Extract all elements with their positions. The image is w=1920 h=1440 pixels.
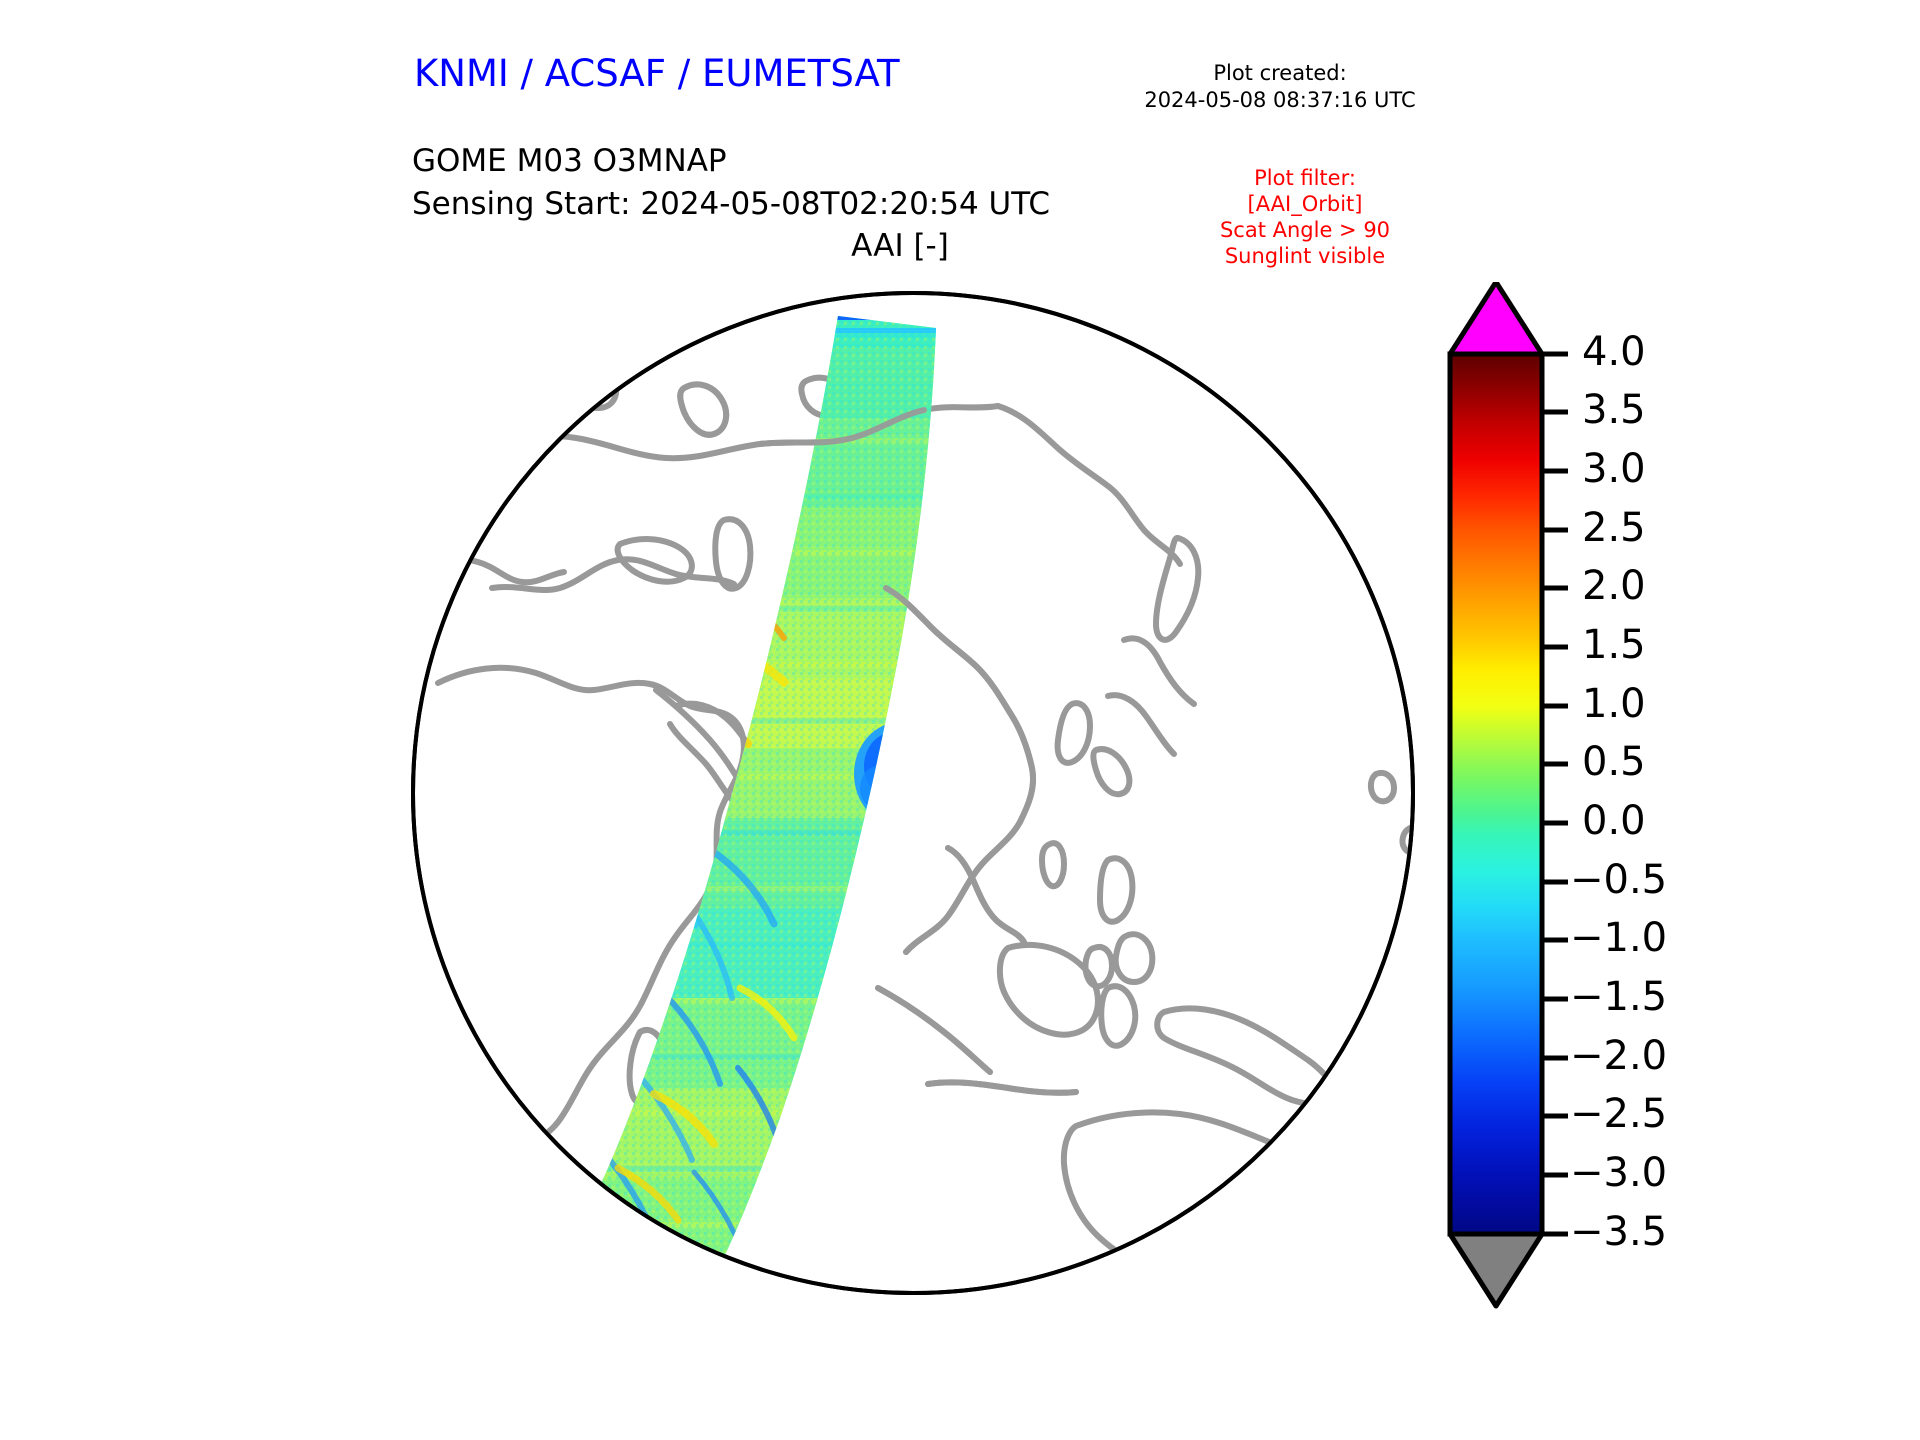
colorbar-tick-label: 0.5 [1582,739,1646,785]
globe-svg [408,288,1418,1298]
plot-filter-condition: Scat Angle > 90 [1160,217,1450,243]
plot-filter-note: Sunglint visible [1160,243,1450,269]
colorbar-under-arrow [1450,1234,1542,1306]
sensing-start: Sensing Start: 2024-05-08T02:20:54 UTC [412,183,1050,226]
plot-created-label: Plot created: [1120,60,1440,87]
organisation-title: KNMI / ACSAF / EUMETSAT [414,52,900,95]
colorbar-tick-label: −3.5 [1570,1209,1667,1255]
plot-filter-name: [AAI_Orbit] [1160,191,1450,217]
colorbar-tick-labels: 4.0 3.5 3.0 2.5 2.0 1.5 1.0 0.5 0.0 −0.5… [1570,329,1667,1255]
colorbar-tick-label: 4.0 [1582,329,1646,375]
colorbar-tick-label: 0.0 [1582,798,1646,844]
colorbar-tick-label: 2.0 [1582,563,1646,609]
colorbar-over-arrow [1450,282,1542,354]
colorbar-tick-label: −0.5 [1570,857,1667,903]
colorbar-tick-label: −2.5 [1570,1091,1667,1137]
colorbar-svg: 4.0 3.5 3.0 2.5 2.0 1.5 1.0 0.5 0.0 −0.5… [1440,282,1700,1312]
colorbar-tick-label: −2.0 [1570,1033,1667,1079]
colorbar-tick-label: 1.5 [1582,622,1646,668]
globe-map [408,288,1418,1298]
plot-created-timestamp: 2024-05-08 08:37:16 UTC [1120,87,1440,114]
colorbar-gradient [1450,354,1542,1234]
colorbar-tick-label: −1.0 [1570,915,1667,961]
plot-created-block: Plot created: 2024-05-08 08:37:16 UTC [1120,60,1440,114]
southern-terminator-negative [560,1234,708,1294]
dataset-name: GOME M03 O3MNAP [412,140,1050,183]
colorbar-ticks [1542,354,1568,1234]
plot-filter-block: Plot filter: [AAI_Orbit] Scat Angle > 90… [1160,165,1450,269]
colorbar-tick-label: −3.0 [1570,1150,1667,1196]
plot-filter-label: Plot filter: [1160,165,1450,191]
dataset-block: GOME M03 O3MNAP Sensing Start: 2024-05-0… [412,140,1050,226]
colorbar-tick-label: 3.5 [1582,387,1646,433]
colorbar-tick-label: 2.5 [1582,505,1646,551]
colorbar-tick-label: 1.0 [1582,681,1646,727]
quantity-title: AAI [-] [700,228,1100,264]
colorbar: 4.0 3.5 3.0 2.5 2.0 1.5 1.0 0.5 0.0 −0.5… [1440,282,1700,1312]
colorbar-tick-label: −1.5 [1570,974,1667,1020]
colorbar-tick-label: 3.0 [1582,446,1646,492]
